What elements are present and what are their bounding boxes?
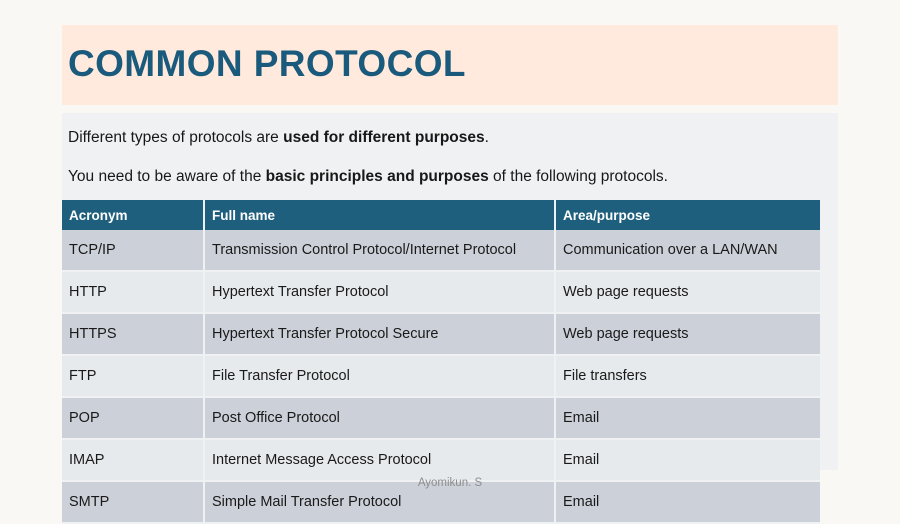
table-cell-area-purpose: Communication over a LAN/WAN <box>556 230 820 272</box>
intro-2-post: of the following protocols. <box>489 168 668 185</box>
table-cell-area-purpose: File transfers <box>556 356 820 398</box>
table-row: POPPost Office ProtocolEmail <box>62 398 820 440</box>
page-title: COMMON PROTOCOL <box>68 42 466 86</box>
table-cell-area-purpose: Email <box>556 440 820 482</box>
table-cell-area-purpose: Web page requests <box>556 272 820 314</box>
column-header-area-purpose: Area/purpose <box>556 200 820 230</box>
intro-1-post: . <box>485 129 489 146</box>
table-row: FTPFile Transfer ProtocolFile transfers <box>62 356 820 398</box>
protocol-table: Acronym Full name Area/purpose TCP/IPTra… <box>62 200 820 524</box>
table-row: TCP/IPTransmission Control Protocol/Inte… <box>62 230 820 272</box>
table-cell-full-name: Internet Message Access Protocol <box>205 440 556 482</box>
intro-paragraph-2: You need to be aware of the basic princi… <box>68 167 668 187</box>
table-cell-acronym: HTTPS <box>62 314 205 356</box>
table-cell-acronym: HTTP <box>62 272 205 314</box>
table-cell-acronym: IMAP <box>62 440 205 482</box>
table-cell-area-purpose: Email <box>556 398 820 440</box>
table-cell-full-name: Transmission Control Protocol/Internet P… <box>205 230 556 272</box>
table-cell-full-name: Hypertext Transfer Protocol Secure <box>205 314 556 356</box>
column-header-acronym: Acronym <box>62 200 205 230</box>
footer-credit: Ayomikun. S <box>0 477 900 489</box>
intro-1-bold: used for different purposes <box>283 129 485 146</box>
table-cell-acronym: POP <box>62 398 205 440</box>
intro-1-pre: Different types of protocols are <box>68 129 283 146</box>
table-header-row: Acronym Full name Area/purpose <box>62 200 820 230</box>
table-cell-full-name: File Transfer Protocol <box>205 356 556 398</box>
intro-2-bold: basic principles and purposes <box>266 168 489 185</box>
table-cell-acronym: TCP/IP <box>62 230 205 272</box>
table-cell-full-name: Post Office Protocol <box>205 398 556 440</box>
intro-2-pre: You need to be aware of the <box>68 168 266 185</box>
table-cell-area-purpose: Web page requests <box>556 314 820 356</box>
table-cell-acronym: FTP <box>62 356 205 398</box>
table-row: HTTPHypertext Transfer ProtocolWeb page … <box>62 272 820 314</box>
table-cell-full-name: Hypertext Transfer Protocol <box>205 272 556 314</box>
column-header-full-name: Full name <box>205 200 556 230</box>
table-row: IMAPInternet Message Access ProtocolEmai… <box>62 440 820 482</box>
table-row: HTTPSHypertext Transfer Protocol SecureW… <box>62 314 820 356</box>
intro-paragraph-1: Different types of protocols are used fo… <box>68 128 489 148</box>
